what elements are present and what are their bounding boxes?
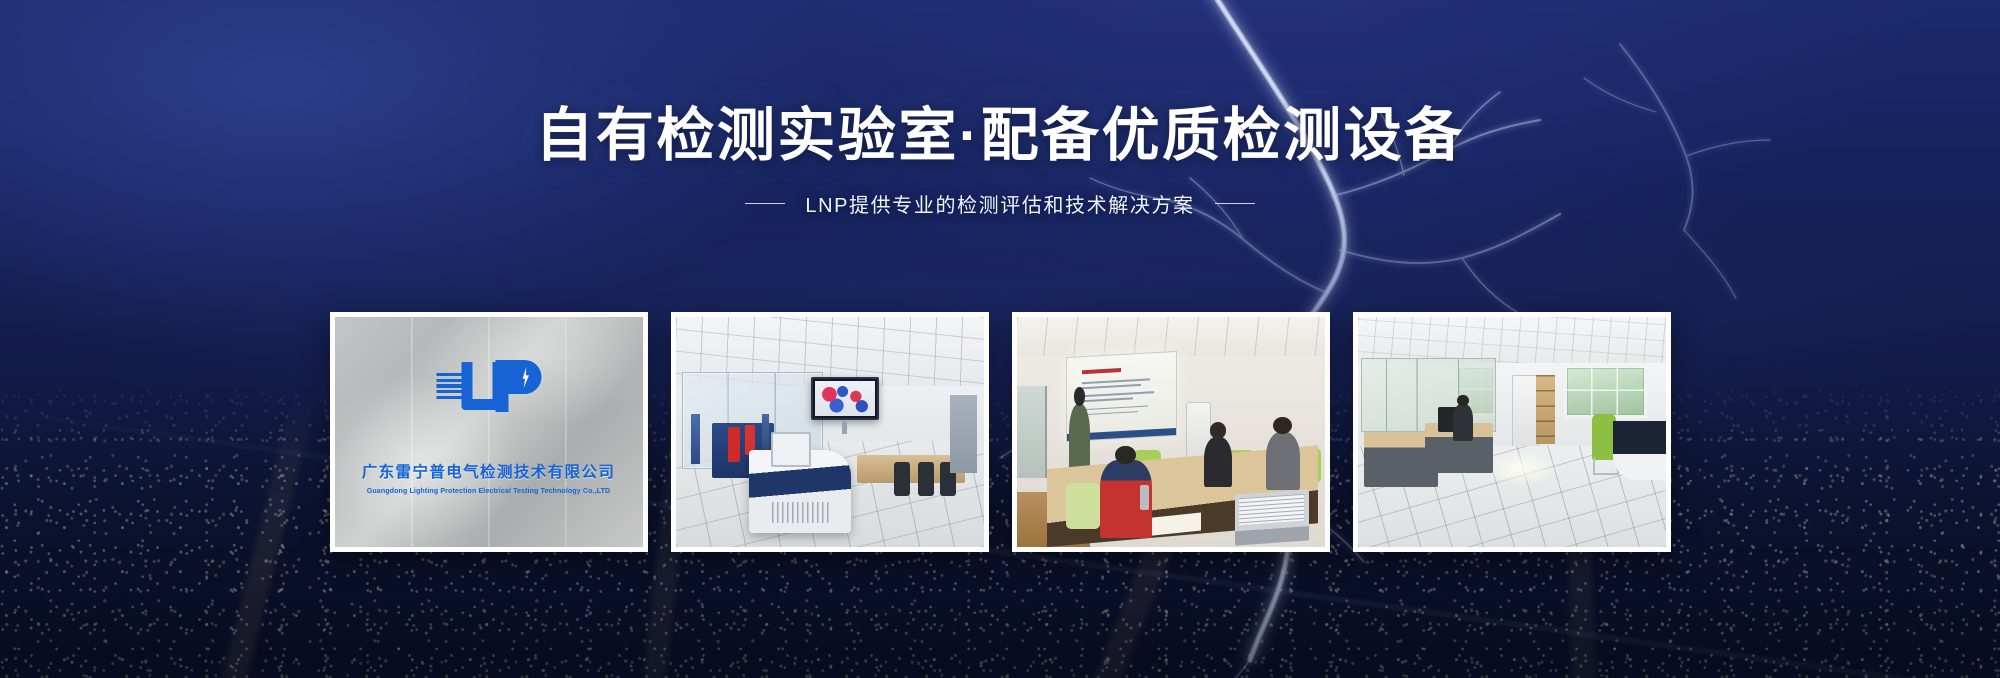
slide-text-line <box>1082 384 1141 389</box>
rule-left-decoration <box>745 203 785 204</box>
laptop-computer <box>1235 489 1309 545</box>
office-chair <box>918 462 934 497</box>
company-name-en: Guangdong Lighting Protection Electrical… <box>367 487 611 495</box>
slide-text-line <box>1082 397 1133 402</box>
test-column-left <box>691 414 700 465</box>
storage-cabinet <box>1512 375 1540 449</box>
high-voltage-laboratory-image <box>676 317 984 547</box>
logo-lightning-bolt-icon <box>521 367 530 388</box>
slide-text-line <box>1082 405 1147 410</box>
page-subtitle: LNP提供专业的检测评估和技术解决方案 <box>805 189 1194 218</box>
page-title: 自有检测实验室·配备优质检测设备 <box>0 104 2000 169</box>
logo-letter-p <box>495 360 541 412</box>
slide-text-line <box>1082 410 1138 415</box>
photo-card-laboratory[interactable] <box>671 312 989 552</box>
photo-card-company-sign[interactable]: 广东雷宁普电气检测技术有限公司 Guangdong Lighting Prote… <box>330 312 648 552</box>
monitor-mount <box>842 421 847 435</box>
red-insulator-1 <box>728 427 740 462</box>
thermos-cup <box>1140 485 1149 510</box>
glass-door <box>1017 386 1048 478</box>
presenter-person <box>1069 404 1091 471</box>
subtitle-row: LNP提供专业的检测评估和技术解决方案 <box>0 189 2000 218</box>
rule-right-decoration <box>1215 203 1255 204</box>
office-chair <box>894 462 910 497</box>
office-worker-person <box>1453 404 1473 441</box>
wall-mounted-monitor <box>811 377 879 421</box>
attendee-person <box>1266 432 1300 490</box>
headline-block: 自有检测实验室·配备优质检测设备 LNP提供专业的检测评估和技术解决方案 <box>0 104 2000 218</box>
photo-card-office[interactable] <box>1353 312 1671 552</box>
lab-doorway <box>950 395 978 473</box>
glass-partition <box>1361 358 1497 432</box>
lnp-logo-icon <box>436 360 541 412</box>
console-monitor <box>771 432 811 467</box>
photo-gallery: 广东雷宁普电气检测技术有限公司 Guangdong Lighting Prote… <box>0 312 2000 552</box>
wall-light-reflection <box>335 317 643 547</box>
green-chair <box>1066 483 1100 529</box>
office-area-image <box>1358 317 1666 547</box>
company-wall-sign-image: 广东雷宁普电气检测技术有限公司 Guangdong Lighting Prote… <box>335 317 643 547</box>
slide-text-line <box>1082 391 1154 397</box>
hero-banner: 自有检测实验室·配备优质检测设备 LNP提供专业的检测评估和技术解决方案 <box>0 0 2000 678</box>
window-right <box>1564 365 1647 418</box>
logo-bars <box>436 373 462 399</box>
photo-card-meeting-room[interactable] <box>1012 312 1330 552</box>
wooden-shelf <box>1536 375 1554 444</box>
slide-title-bar <box>1082 368 1121 374</box>
reception-counter <box>1613 421 1665 481</box>
training-meeting-room-image <box>1017 317 1325 547</box>
attendee-person <box>1204 437 1232 488</box>
company-name-cn: 广东雷宁普电气检测技术有限公司 <box>362 460 616 482</box>
